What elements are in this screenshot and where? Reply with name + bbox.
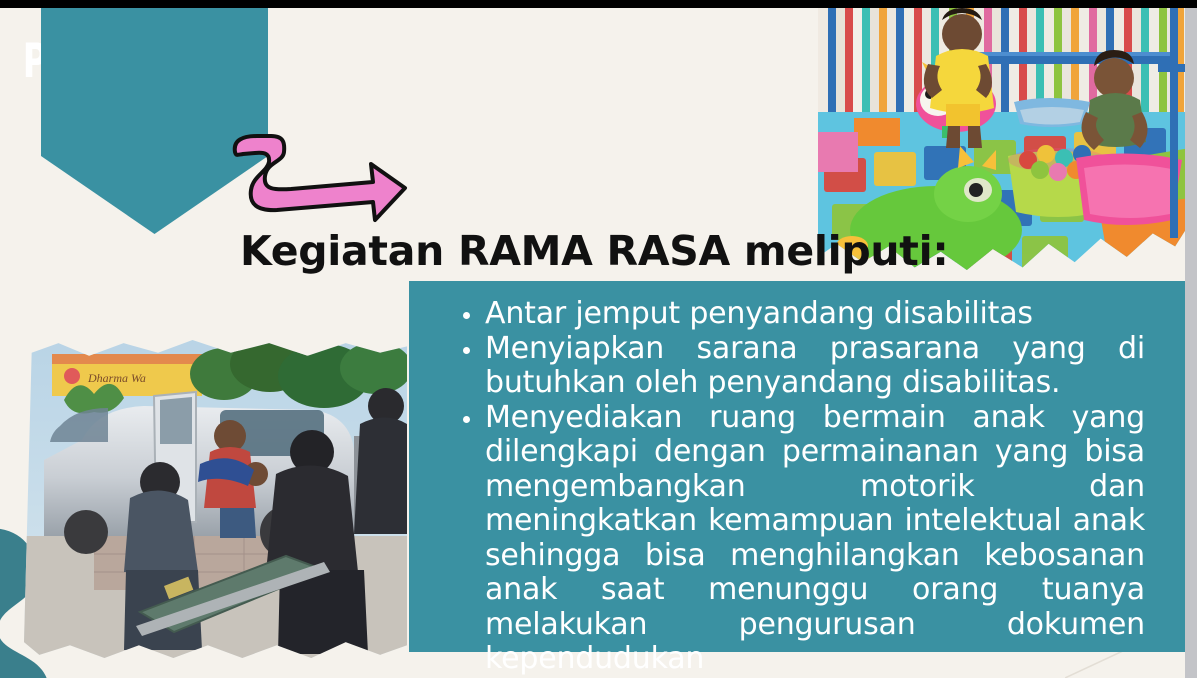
photo-van-assistance: Dharma Wa xyxy=(24,340,407,658)
activity-list: Antar jemput penyandang disabilitas Meny… xyxy=(409,281,1185,677)
svg-text:Dharma Wa: Dharma Wa xyxy=(87,371,146,385)
content-box: Antar jemput penyandang disabilitas Meny… xyxy=(409,281,1185,652)
list-item: Menyediakan ruang bermain anak yang dile… xyxy=(461,401,1145,677)
window-right-edge xyxy=(1185,8,1197,678)
list-item: Menyiapkan sarana prasarana yang di butu… xyxy=(461,332,1145,401)
page-title: Kegiatan RAMA RASA meliputi: xyxy=(240,224,948,278)
list-item: Antar jemput penyandang disabilitas xyxy=(461,297,1145,332)
window-top-bar xyxy=(0,0,1197,8)
curved-arrow-right-icon xyxy=(227,132,409,234)
presentation-slide: Dharma Wa xyxy=(0,0,1197,678)
